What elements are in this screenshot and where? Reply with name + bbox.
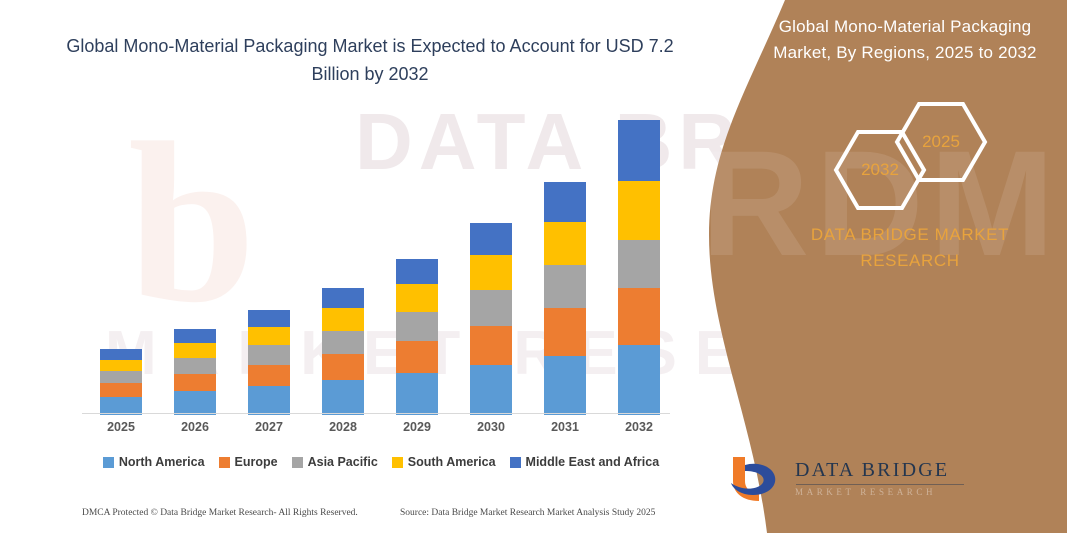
bar-segment [248,345,290,365]
bar-segment [100,371,142,383]
hexagon-group: 2032 2025 [707,100,1067,220]
bar-column-2030 [470,223,512,415]
x-axis-label-2025: 2025 [91,420,151,434]
bar-segment [248,327,290,345]
bar-segment [470,255,512,290]
bar-column-2032 [618,120,660,415]
bar-segment [174,374,216,391]
logo-divider [796,484,964,485]
bar-segment [322,354,364,380]
legend-swatch-icon [103,457,114,468]
bar-segment [544,265,586,308]
x-axis-label-2027: 2027 [239,420,299,434]
bar-segment [174,358,216,374]
chart-area: b DATA BRIDGE MARKET RESEARCH Global Mon… [0,0,720,533]
bar-segment [544,222,586,265]
bar-segment [100,349,142,359]
legend-item[interactable]: Middle East and Africa [510,455,660,469]
stacked-bar-plot [86,120,666,415]
bar-segment [174,391,216,415]
logo-subtitle: MARKET RESEARCH [795,487,964,497]
bar-segment [618,345,660,415]
bar-segment [618,181,660,240]
bar-segment [322,288,364,308]
chart-legend: North AmericaEuropeAsia PacificSouth Ame… [86,455,676,469]
legend-item[interactable]: South America [392,455,496,469]
legend-swatch-icon [392,457,403,468]
brand-panel: RDM Global Mono-Material Packaging Marke… [707,0,1067,533]
logo-title: DATA BRIDGE [795,459,964,482]
bar-segment [322,380,364,415]
bar-segment [544,308,586,355]
bar-segment [618,120,660,181]
hexagon-2032-label: 2032 [861,160,899,180]
bar-segment [322,308,364,331]
bar-segment [544,182,586,222]
bar-segment [618,288,660,345]
infographic-page: b DATA BRIDGE MARKET RESEARCH Global Mon… [0,0,1067,533]
brand-name-line-2: RESEARCH [765,248,1055,274]
brand-name-line-1: DATA BRIDGE MARKET [765,222,1055,248]
legend-swatch-icon [510,457,521,468]
bar-segment [248,310,290,327]
bar-segment [470,290,512,326]
x-axis-labels: 20252026202720282029203020312032 [86,420,666,442]
bar-segment [396,373,438,415]
panel-title: Global Mono-Material Packaging Market, B… [755,14,1055,66]
bar-segment [322,331,364,355]
footer-copyright: DMCA Protected © Data Bridge Market Rese… [82,508,358,518]
bar-segment [174,343,216,358]
bar-column-2031 [544,182,586,415]
x-axis-label-2032: 2032 [609,420,669,434]
bar-segment [396,341,438,373]
bar-segment [470,365,512,415]
bar-segment [396,259,438,284]
bar-column-2027 [248,310,290,415]
legend-label: Asia Pacific [308,455,378,469]
bar-segment [248,365,290,386]
bar-segment [396,312,438,342]
bar-segment [470,223,512,255]
legend-item[interactable]: North America [103,455,205,469]
x-axis-label-2029: 2029 [387,420,447,434]
bar-column-2029 [396,259,438,415]
legend-item[interactable]: Europe [219,455,278,469]
x-axis-label-2028: 2028 [313,420,373,434]
x-axis-line [82,413,670,414]
bar-segment [100,360,142,371]
data-bridge-logo-icon [725,451,787,509]
bar-segment [174,329,216,343]
page-title: Global Mono-Material Packaging Market is… [60,32,680,88]
x-axis-label-2026: 2026 [165,420,225,434]
bar-column-2028 [322,288,364,415]
x-axis-label-2030: 2030 [461,420,521,434]
x-axis-label-2031: 2031 [535,420,595,434]
bar-segment [470,326,512,365]
hexagon-2025: 2025 [893,100,989,184]
footer-source: Source: Data Bridge Market Research Mark… [400,508,655,518]
legend-label: South America [408,455,496,469]
legend-label: North America [119,455,205,469]
bar-column-2026 [174,329,216,415]
legend-swatch-icon [292,457,303,468]
bar-segment [100,383,142,396]
brand-name: DATA BRIDGE MARKET RESEARCH [765,222,1055,274]
logo-text: DATA BRIDGE MARKET RESEARCH [795,459,964,497]
bar-segment [248,386,290,415]
bar-segment [544,356,586,415]
footer: DMCA Protected © Data Bridge Market Rese… [0,508,720,530]
bar-column-2025 [100,349,142,415]
legend-label: Europe [235,455,278,469]
legend-label: Middle East and Africa [526,455,660,469]
bar-segment [618,240,660,288]
legend-item[interactable]: Asia Pacific [292,455,378,469]
hexagon-2025-label: 2025 [922,132,960,152]
company-logo: DATA BRIDGE MARKET RESEARCH [725,449,1045,511]
bar-segment [396,284,438,312]
legend-swatch-icon [219,457,230,468]
